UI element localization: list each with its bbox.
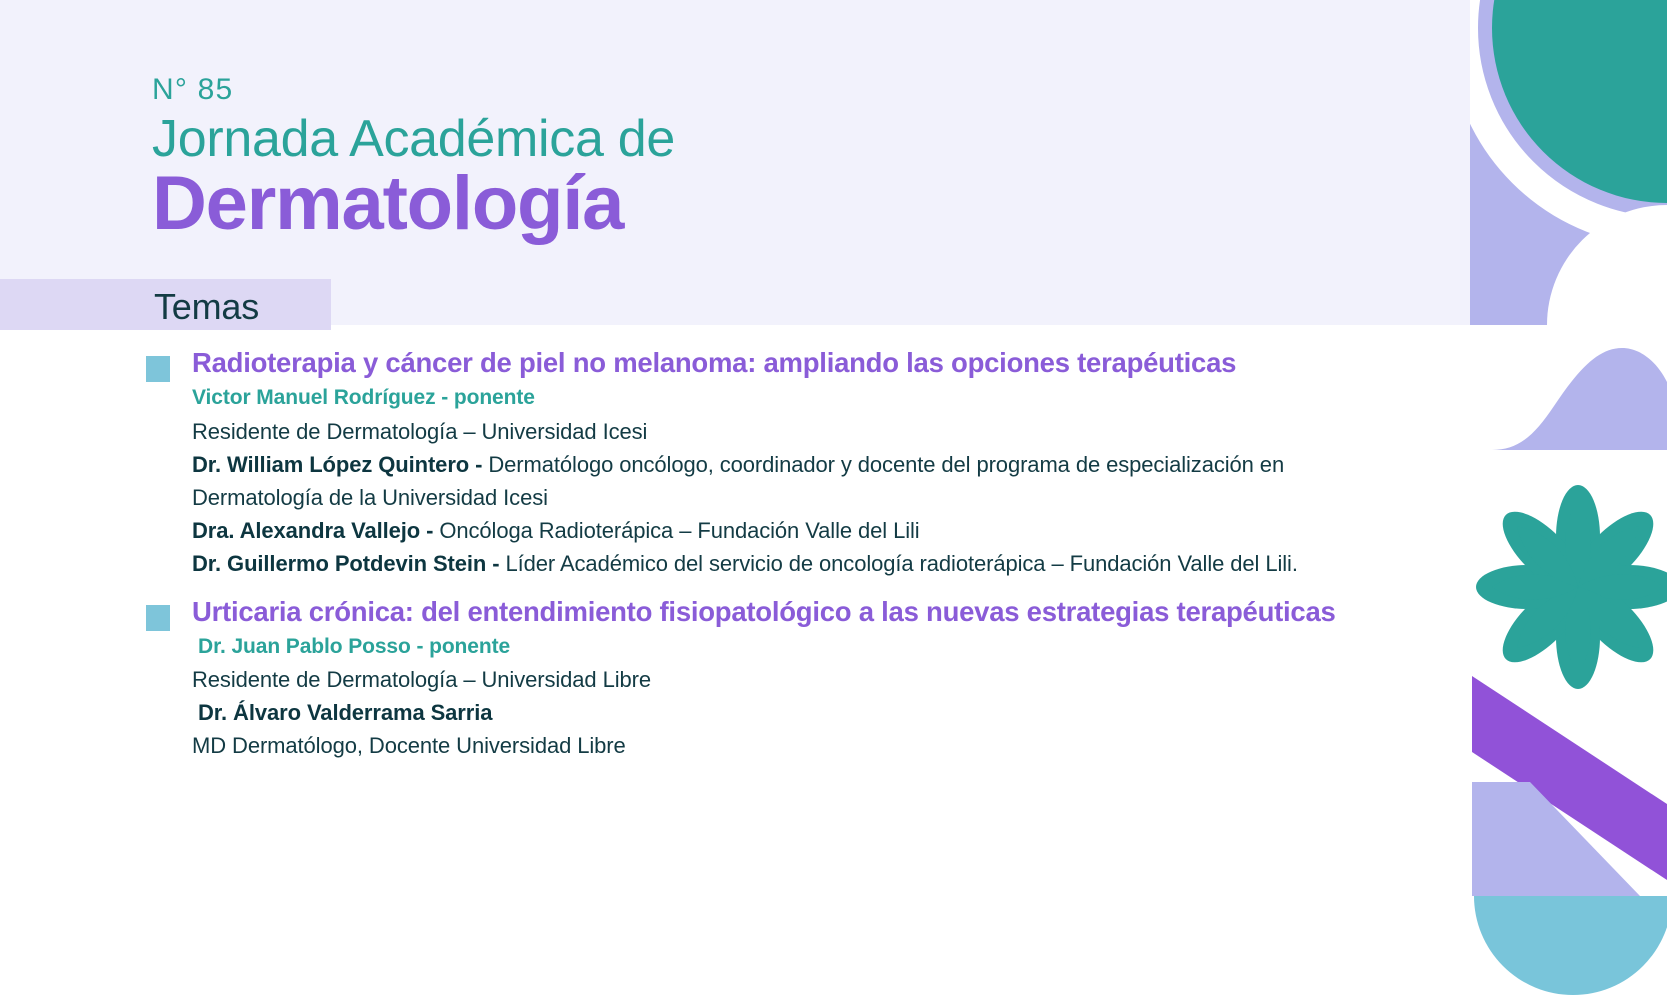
square-bullet-icon	[146, 356, 170, 382]
person-name: Dr. Guillermo Potdevin Stein -	[192, 551, 500, 576]
decoration-svg	[1470, 0, 1667, 1001]
speaker-highlight: Victor Manuel Rodríguez - ponente	[192, 382, 1392, 415]
page-title: Dermatología	[152, 164, 675, 244]
person-entry: Dr. Guillermo Potdevin Stein - Líder Aca…	[192, 547, 1392, 580]
poster-root: N° 85 Jornada Académica de Dermatología …	[0, 0, 1667, 1001]
topic-heading: Radioterapia y cáncer de piel no melanom…	[146, 345, 1396, 382]
poster-header: N° 85 Jornada Académica de Dermatología	[152, 74, 675, 244]
issue-number: N° 85	[152, 74, 675, 106]
speaker-highlight: Dr. Juan Pablo Posso - ponente	[198, 631, 1392, 664]
square-bullet-icon	[146, 605, 170, 631]
topic-title: Radioterapia y cáncer de piel no melanom…	[192, 345, 1236, 381]
closing-line: MD Dermatólogo, Docente Universidad Libr…	[192, 729, 1392, 762]
topic-item: Radioterapia y cáncer de piel no melanom…	[146, 345, 1396, 580]
teal-flower-icon	[1476, 485, 1667, 689]
topic-item: Urticaria crónica: del entendimiento fis…	[146, 594, 1396, 763]
person-name: Dr. Álvaro Valderrama Sarria	[198, 700, 492, 725]
topic-title: Urticaria crónica: del entendimiento fis…	[192, 594, 1336, 630]
topic-details: Dr. Juan Pablo Posso - ponente Residente…	[192, 631, 1392, 763]
person-entry: Dra. Alexandra Vallejo - Oncóloga Radiot…	[192, 514, 1392, 547]
topics-list: Radioterapia y cáncer de piel no melanom…	[146, 345, 1396, 764]
speaker-affiliation: Residente de Dermatología – Universidad …	[192, 415, 1392, 448]
speaker-affiliation: Residente de Dermatología – Universidad …	[192, 663, 1392, 696]
person-name: Dr. William López Quintero -	[192, 452, 482, 477]
person-name: Dra. Alexandra Vallejo -	[192, 518, 433, 543]
event-subtitle: Jornada Académica de	[152, 110, 675, 168]
decorative-graphics	[1470, 0, 1667, 1001]
topic-heading: Urticaria crónica: del entendimiento fis…	[146, 594, 1396, 631]
temas-label: Temas	[154, 286, 259, 328]
person-entry: Dr. Álvaro Valderrama Sarria	[198, 696, 1392, 729]
topic-details: Victor Manuel Rodríguez - ponente Reside…	[192, 382, 1392, 580]
person-role: Oncóloga Radioterápica – Fundación Valle…	[433, 518, 919, 543]
person-role: Líder Académico del servicio de oncologí…	[500, 551, 1298, 576]
blue-halfcircle-icon	[1474, 896, 1667, 995]
person-entry: Dr. William López Quintero - Dermatólogo…	[192, 448, 1392, 514]
